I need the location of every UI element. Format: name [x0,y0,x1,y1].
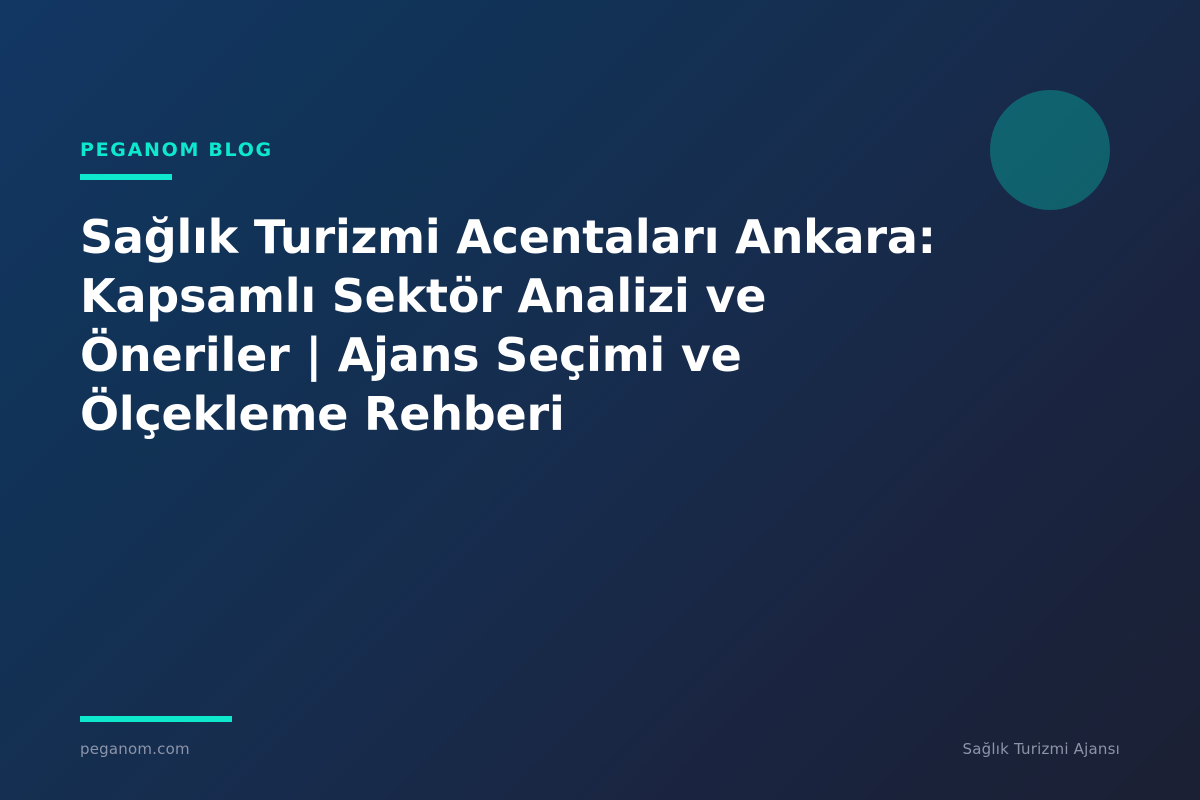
eyebrow-accent-rule [80,174,172,180]
blog-share-card: PEGANOM BLOG Sağlık Turizmi Acentaları A… [0,0,1200,800]
site-domain-label: peganom.com [80,740,190,758]
decorative-circle [990,90,1110,210]
brand-eyebrow-label: PEGANOM BLOG [80,140,980,161]
page-title: Sağlık Turizmi Acentaları Ankara: Kapsam… [80,208,960,444]
footer-row: peganom.com Sağlık Turizmi Ajansı [80,740,1120,758]
footer-accent-rule [80,716,232,722]
card-footer: peganom.com Sağlık Turizmi Ajansı [80,716,1120,758]
site-tagline-label: Sağlık Turizmi Ajansı [963,740,1120,758]
card-content: PEGANOM BLOG Sağlık Turizmi Acentaları A… [80,140,980,444]
